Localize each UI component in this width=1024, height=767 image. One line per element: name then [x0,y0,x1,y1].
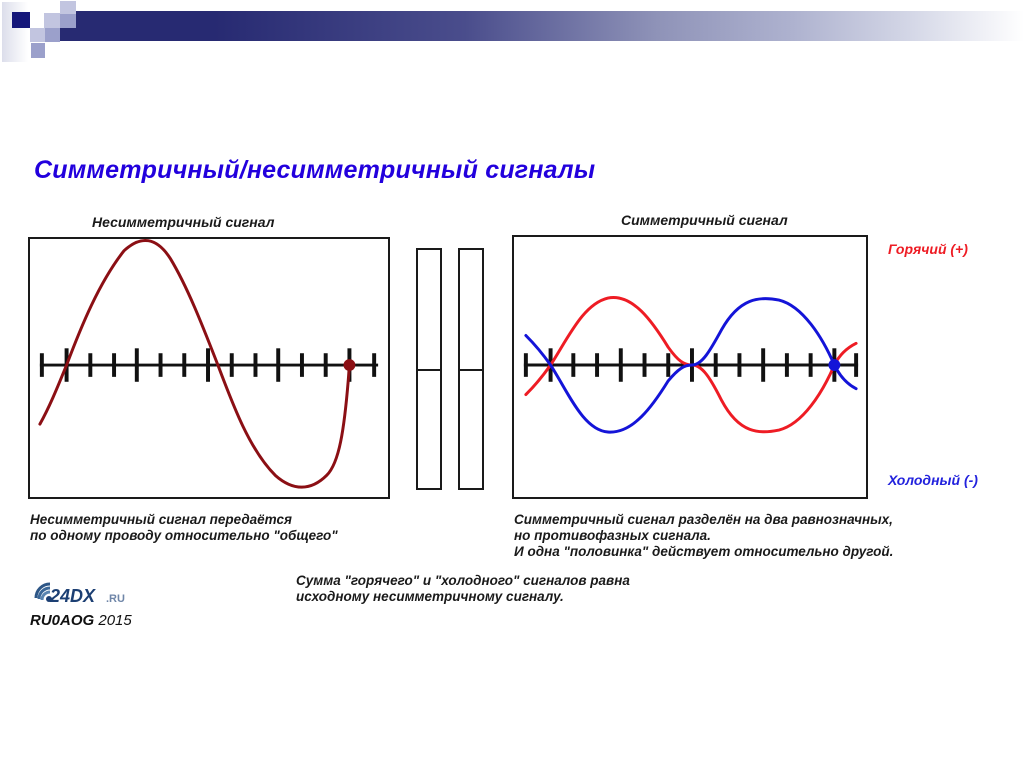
header-square-light-d [30,28,45,42]
logo-block: 24DX .RU RU0AOG 2015 [30,578,148,629]
caption-signal-sum: Сумма "горячего" и "холодного" сигналов … [296,573,630,605]
header-square-mid-c [60,14,76,28]
legend-cold-label: Холодный (-) [888,472,978,488]
header-square-mid-f [31,43,45,58]
header-square-fade [2,2,28,62]
legend-hot-label: Горячий (+) [888,241,968,257]
author-callsign: RU0AOG [30,612,94,629]
connector-divider-left [416,369,442,371]
caption-unbalanced-signal: Несимметричный сигнал передаётся по одно… [30,512,338,544]
connector-divider-right [458,369,484,371]
brand-logo-tld: .RU [106,593,125,605]
axis-tick-group [42,348,374,381]
brand-logo-graphic: 24DX .RU [30,578,148,606]
chart-unbalanced-canvas [30,239,388,497]
author-year: 2015 [98,612,131,629]
brand-logo-text: 24DX [49,586,96,606]
connector-box-left [416,248,442,490]
page-title: Симметричный/несимметричный сигналы [34,156,595,185]
chart-heading-unbalanced: Несимметричный сигнал [92,214,274,230]
header-square-mid-e [45,28,60,42]
waveform-endpoint-marker [828,359,840,371]
waveform-endpoint-marker [343,359,355,371]
header-decoration-band [0,0,1024,70]
chart-balanced-signal [512,235,868,499]
brand-logo: 24DX .RU [30,578,148,606]
chart-balanced-canvas [514,237,866,497]
header-square-dark [12,12,30,28]
chart-unbalanced-signal [28,237,390,499]
chart-heading-balanced: Симметричный сигнал [621,212,788,228]
caption-balanced-signal: Симметричный сигнал разделён на два равн… [514,512,893,560]
author-credit: RU0AOG 2015 [30,612,148,629]
header-square-light-a [44,13,60,28]
connector-box-right [458,248,484,490]
header-square-light-b [60,1,76,15]
header-gradient-bar [60,11,1024,41]
